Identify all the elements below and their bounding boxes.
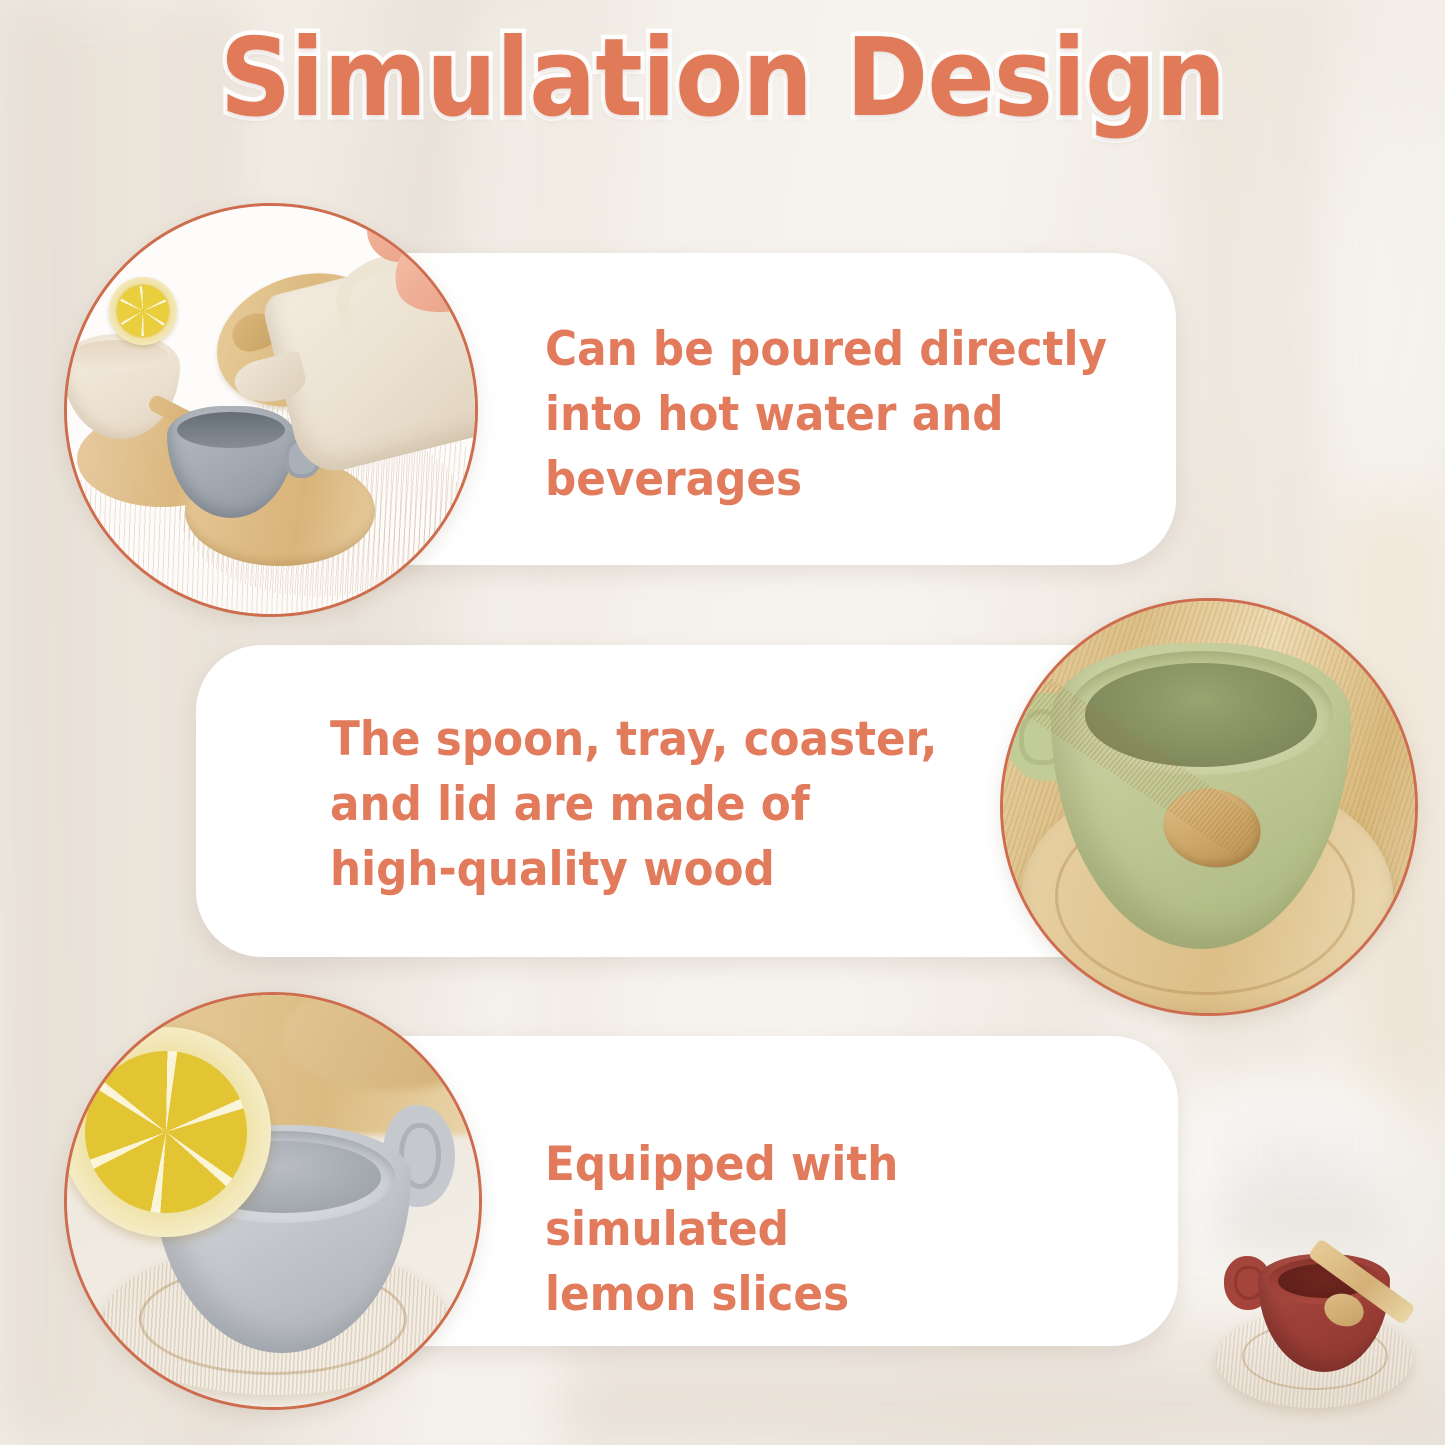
feature-text-1: Can be poured directly into hot water an… (545, 318, 1122, 513)
infographic-page: Simulation Design Can be poured directly… (0, 0, 1445, 1445)
feature-text-3: Equipped with simulated lemon slices (545, 1133, 1140, 1328)
feature-text-2: The spoon, tray, coaster, and lid are ma… (330, 708, 944, 903)
page-title: Simulation Design (58, 22, 1387, 135)
gray-cup-rim (177, 412, 285, 448)
background-appliance-knob (1258, 1140, 1274, 1156)
cream-cup-rim (70, 340, 168, 370)
lemon-slice-icon (109, 277, 177, 345)
gray-cup-lemon-photo (64, 992, 482, 1410)
green-cup-spoon-photo (1000, 598, 1418, 1016)
teapot-pouring-photo (64, 203, 478, 617)
background-appliance-knob-2 (1300, 1140, 1316, 1156)
lemon-slice-icon (64, 1027, 271, 1237)
red-cup-photo (1196, 1222, 1436, 1432)
